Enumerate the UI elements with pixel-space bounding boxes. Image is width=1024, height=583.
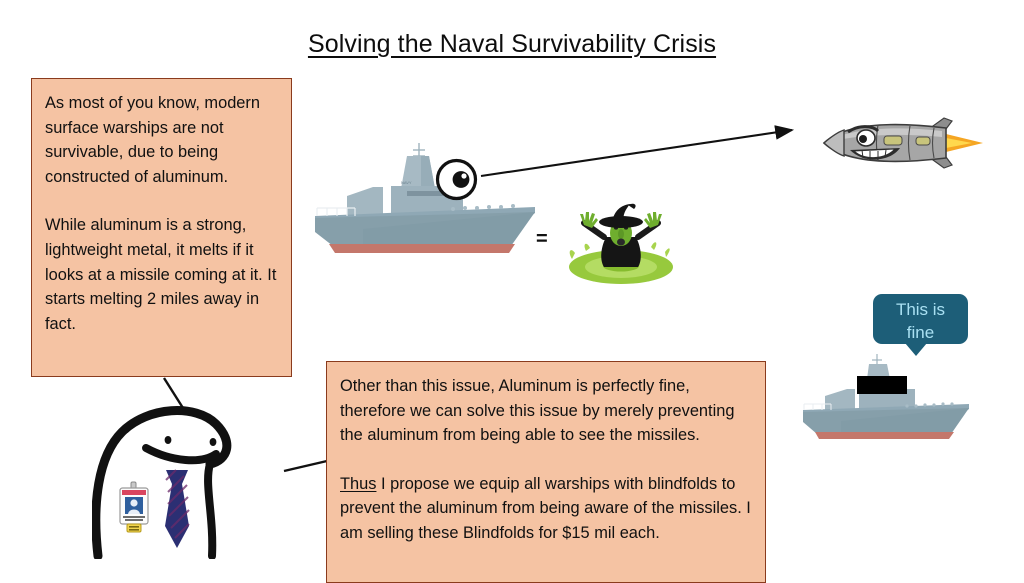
callout-left-paragraph-2: While aluminum is a strong, lightweight …: [45, 213, 280, 336]
warship-blindfolded-illustration: [795, 349, 975, 447]
angry-cartoon-missile-illustration: [818, 112, 983, 174]
callout-left-paragraph-1: As most of you know, modern surface wars…: [45, 91, 280, 189]
bubble-line-1: This is: [873, 298, 968, 321]
missile-port-2: [916, 137, 930, 145]
slide-canvas: Solving the Naval Survivability Crisis A…: [0, 0, 1024, 583]
ship-waterline-stripe: [329, 244, 515, 253]
flork-body-right: [208, 464, 212, 556]
flork-beak: [146, 448, 216, 460]
bottom-callout-leader-line: [284, 461, 327, 471]
ship-hull-number: NAVY: [401, 180, 412, 185]
cartoon-eye-icon: [434, 157, 479, 202]
melting-green-witch-illustration: [566, 203, 676, 285]
flork-eyes: [165, 436, 217, 446]
callout-bottom-paragraph-2: Thus I propose we equip all warships wit…: [340, 472, 754, 546]
eye-highlight: [461, 173, 466, 178]
eye-pupil: [453, 171, 470, 188]
missile-nose-tip: [824, 130, 844, 156]
callout-bottom-paragraph-1: Other than this issue, Aluminum is perfe…: [340, 374, 754, 448]
ship-deckhouse-forward: [347, 187, 383, 218]
blindfold-solution-callout: Other than this issue, Aluminum is perfe…: [326, 361, 766, 583]
ship-blindfold: [857, 376, 907, 394]
missile-pupil: [859, 135, 867, 143]
witch-hat: [599, 204, 643, 228]
missile-port-1: [884, 136, 902, 145]
witch-mouth: [617, 239, 625, 246]
bubble-line-2: fine: [873, 321, 968, 344]
witch-nose: [618, 229, 624, 239]
callout-bottom-paragraph-2-rest: I propose we equip all warships with bli…: [340, 475, 751, 542]
this-is-fine-speech-bubble: This is fine: [873, 294, 968, 344]
flork-id-badge: [120, 482, 148, 532]
thus-emphasis: Thus: [340, 475, 376, 493]
aluminum-problem-callout: As most of you know, modern surface wars…: [31, 78, 292, 377]
flork-necktie: [165, 470, 189, 548]
blind-ship-waterline-stripe: [815, 432, 954, 439]
missile-flame: [946, 134, 983, 152]
flork-presenter-illustration: [92, 384, 272, 559]
warship-main-illustration: NAVY: [303, 134, 543, 265]
